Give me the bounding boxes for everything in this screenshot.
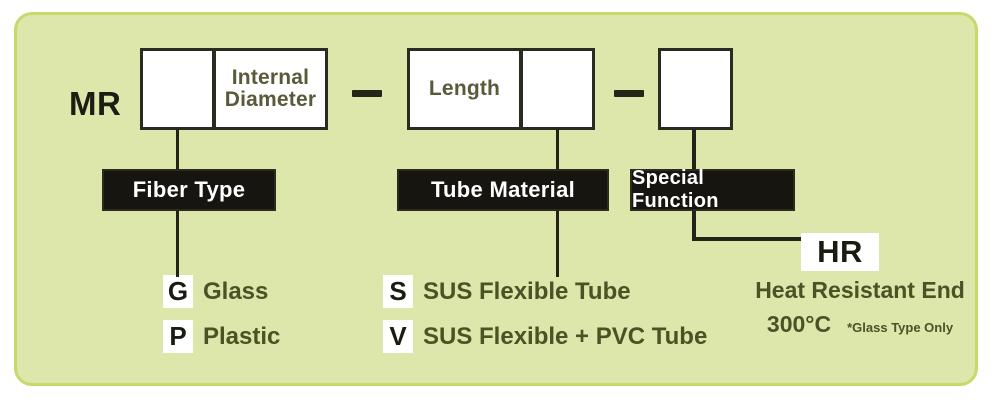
callout-temperature: 300°C — [767, 311, 831, 338]
label-fiber-type: Fiber Type — [102, 169, 276, 211]
separator-dash-1 — [352, 90, 382, 97]
internal-diameter-label: Internal Diameter — [225, 67, 316, 111]
legend-desc-glass: Glass — [203, 278, 268, 306]
callout-title-heat-resistant-end: Heat Resistant End — [735, 277, 985, 304]
code-box-tube-material[interactable] — [520, 48, 595, 130]
label-special-function: Special Function — [630, 169, 795, 211]
code-box-special-function[interactable] — [658, 48, 733, 130]
length-label: Length — [429, 78, 500, 100]
separator-dash-2 — [614, 90, 644, 97]
internal-diameter-line1: Internal — [232, 66, 309, 89]
legend-item-plastic: P Plastic — [163, 320, 280, 353]
legend-code-p: P — [163, 320, 193, 353]
legend-item-glass: G Glass — [163, 275, 268, 308]
legend-desc-sus: SUS Flexible Tube — [423, 278, 631, 306]
callout-code-hr: HR — [801, 233, 879, 271]
legend-item-sus-pvc: V SUS Flexible + PVC Tube — [383, 320, 707, 353]
legend-code-v: V — [383, 320, 413, 353]
callout-note-glass-type-only: *Glass Type Only — [847, 320, 953, 335]
diagram-panel: MR Internal Diameter Length Fiber Type T… — [14, 12, 978, 386]
legend-code-g: G — [163, 275, 193, 308]
legend-item-sus: S SUS Flexible Tube — [383, 275, 631, 308]
internal-diameter-line2: Diameter — [225, 88, 316, 111]
legend-code-s: S — [383, 275, 413, 308]
code-box-length[interactable]: Length — [407, 48, 522, 130]
part-code-prefix: MR — [69, 85, 121, 123]
connector-special-function-horizontal — [692, 237, 807, 241]
callout-subtext: 300°C *Glass Type Only — [735, 311, 985, 338]
legend-desc-sus-pvc: SUS Flexible + PVC Tube — [423, 323, 707, 351]
legend-desc-plastic: Plastic — [203, 323, 280, 351]
code-box-internal-diameter[interactable]: Internal Diameter — [213, 48, 328, 130]
label-tube-material: Tube Material — [397, 169, 609, 211]
code-box-fiber-type[interactable] — [140, 48, 215, 130]
